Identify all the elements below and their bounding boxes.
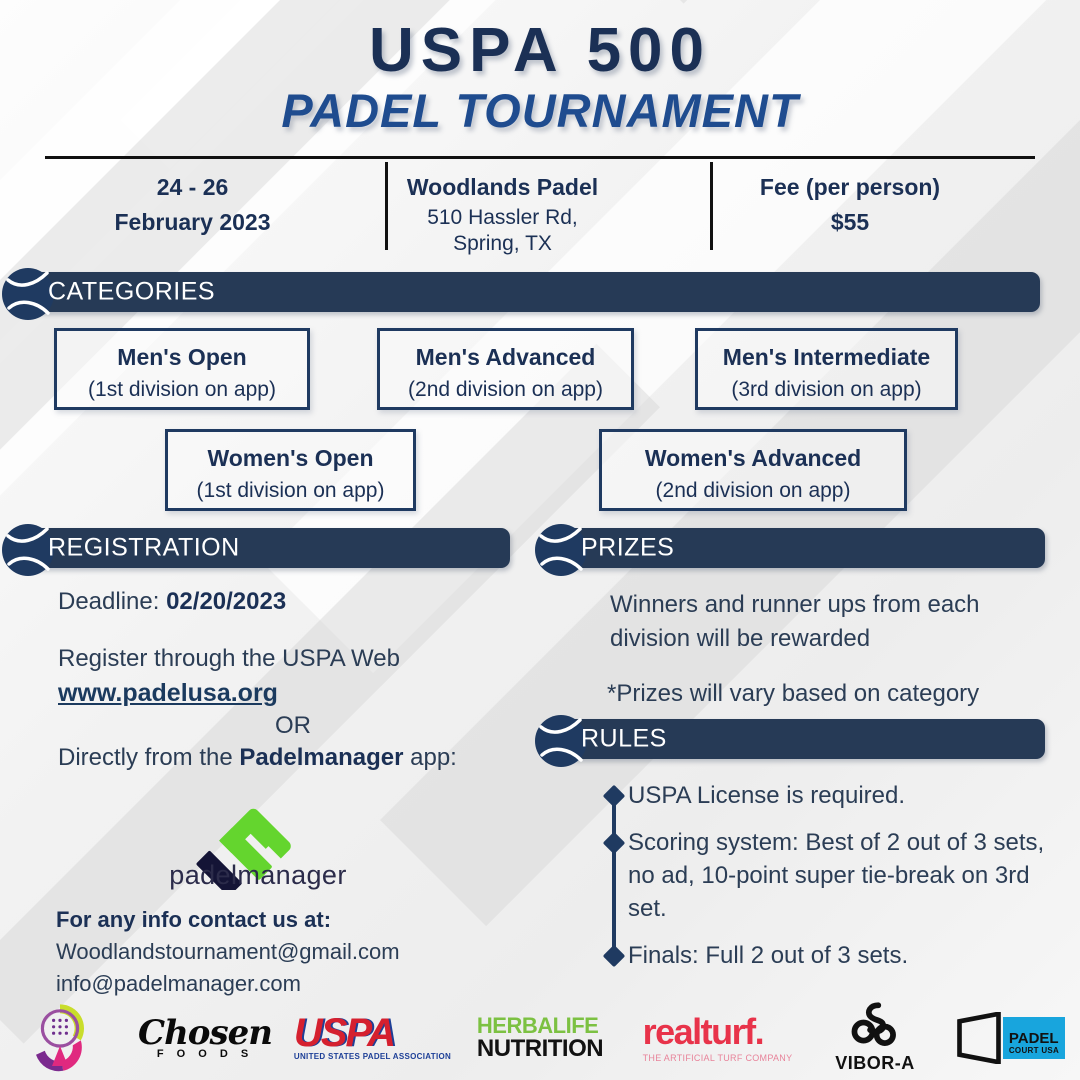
sponsor-logo-padel-court-usa: PADEL COURT USA bbox=[940, 996, 1080, 1080]
section-header-registration: REGISTRATION bbox=[0, 528, 510, 568]
rule-text: Scoring system: Best of 2 out of 3 sets,… bbox=[628, 827, 1050, 926]
venue-address-line-1: 510 Hassler Rd, bbox=[340, 205, 665, 231]
poster-title-block: USPA 500 PADEL TOURNAMENT bbox=[0, 18, 1080, 137]
sponsor-logo-row: Chosen F O O D S USPA UNITED STATES PADE… bbox=[0, 996, 1080, 1080]
info-venue: Woodlands Padel 510 Hassler Rd, Spring, … bbox=[340, 162, 665, 256]
padel-court-tagline: COURT USA bbox=[1009, 1046, 1059, 1055]
fee-label: Fee (per person) bbox=[665, 170, 1035, 205]
category-card[interactable]: Women's Open (1st division on app) bbox=[165, 429, 416, 511]
title-subtitle: PADEL TOURNAMENT bbox=[0, 85, 1080, 137]
sponsor-logo-uspa: USPA UNITED STATES PADEL ASSOCIATION bbox=[290, 996, 455, 1080]
chosen-wordmark: Chosen bbox=[138, 1017, 272, 1049]
category-title: Men's Advanced bbox=[380, 343, 631, 373]
category-subtitle: (2nd division on app) bbox=[602, 476, 904, 505]
padelmanager-wordmark: padelmanager bbox=[58, 860, 458, 891]
diamond-bullet-icon bbox=[603, 832, 626, 855]
venue-address-line-2: Spring, TX bbox=[340, 231, 665, 257]
registration-app-line: Directly from the Padelmanager app: bbox=[58, 744, 528, 772]
category-card[interactable]: Men's Advanced (2nd division on app) bbox=[377, 328, 634, 410]
registration-or-label: OR bbox=[58, 712, 528, 740]
category-subtitle: (3rd division on app) bbox=[698, 375, 955, 404]
registration-instruction: Register through the USPA Web bbox=[58, 642, 528, 677]
category-title: Men's Intermediate bbox=[698, 343, 955, 373]
deadline-value: 02/20/2023 bbox=[166, 588, 286, 615]
section-title-registration: REGISTRATION bbox=[48, 534, 240, 563]
registration-body: Deadline: 02/20/2023 Register through th… bbox=[58, 585, 528, 772]
realturf-wordmark: realturf. bbox=[643, 1014, 793, 1050]
category-title: Men's Open bbox=[57, 343, 307, 373]
category-card[interactable]: Men's Intermediate (3rd division on app) bbox=[695, 328, 958, 410]
section-title-categories: CATEGORIES bbox=[48, 278, 215, 307]
venue-name: Woodlands Padel bbox=[340, 170, 665, 205]
uspa-wordmark: USPA bbox=[294, 1015, 451, 1051]
uspa-tagline: UNITED STATES PADEL ASSOCIATION bbox=[294, 1052, 451, 1061]
category-title: Women's Advanced bbox=[602, 444, 904, 474]
poster-canvas: USPA 500 PADEL TOURNAMENT 24 - 26 Februa… bbox=[0, 0, 1080, 1080]
herbalife-nutrition-word: NUTRITION bbox=[477, 1037, 603, 1061]
rule-item: USPA License is required. bbox=[600, 780, 1050, 813]
rule-text: Finals: Full 2 out of 3 sets. bbox=[628, 940, 1050, 973]
herbalife-wordmark: HERBALIFE bbox=[477, 1015, 603, 1037]
padel-court-outline-icon bbox=[955, 1012, 1003, 1064]
diamond-bullet-icon bbox=[603, 944, 626, 967]
diamond-bullet-icon bbox=[603, 785, 626, 808]
woodlands-padel-logo-icon bbox=[20, 998, 100, 1078]
info-date: 24 - 26 February 2023 bbox=[45, 162, 340, 256]
event-info-row: 24 - 26 February 2023 Woodlands Padel 51… bbox=[45, 162, 1035, 256]
section-header-rules: RULES bbox=[533, 719, 1048, 759]
app-name: Padelmanager bbox=[239, 744, 403, 771]
prizes-note: *Prizes will vary based on category bbox=[607, 677, 1040, 711]
app-suffix: app: bbox=[403, 744, 456, 771]
realturf-tagline: THE ARTIFICIAL TURF COMPANY bbox=[643, 1053, 793, 1063]
section-header-prizes: PRIZES bbox=[533, 528, 1048, 568]
registration-deadline: Deadline: 02/20/2023 bbox=[58, 585, 528, 620]
contact-heading: For any info contact us at: bbox=[56, 903, 526, 936]
rule-text: USPA License is required. bbox=[628, 780, 1050, 813]
sponsor-logo-woodlands-padel bbox=[0, 996, 120, 1080]
registration-website-link[interactable]: www.padelusa.org bbox=[58, 679, 528, 708]
section-header-categories: CATEGORIES bbox=[0, 272, 1040, 312]
date-line-2: February 2023 bbox=[45, 205, 340, 240]
vibor-a-wordmark: VIBOR-A bbox=[835, 1053, 915, 1074]
header-divider-line bbox=[45, 156, 1035, 159]
sponsor-logo-chosen-foods: Chosen F O O D S bbox=[120, 996, 290, 1080]
category-title: Women's Open bbox=[168, 444, 413, 474]
contact-email-1[interactable]: Woodlandstournament@gmail.com bbox=[56, 936, 526, 968]
app-prefix: Directly from the bbox=[58, 744, 239, 771]
category-subtitle: (1st division on app) bbox=[57, 375, 307, 404]
sponsor-logo-realturf: realturf. THE ARTIFICIAL TURF COMPANY bbox=[625, 996, 810, 1080]
prizes-line-2: division will be rewarded bbox=[610, 622, 1040, 656]
fee-value: $55 bbox=[665, 205, 1035, 240]
rule-item: Scoring system: Best of 2 out of 3 sets,… bbox=[600, 827, 1050, 926]
category-subtitle: (1st division on app) bbox=[168, 476, 413, 505]
title-main: USPA 500 bbox=[0, 18, 1080, 83]
date-line-1: 24 - 26 bbox=[45, 170, 340, 205]
section-title-rules: RULES bbox=[581, 725, 667, 754]
padel-court-wordmark: PADEL bbox=[1009, 1031, 1059, 1046]
deadline-label: Deadline: bbox=[58, 588, 166, 615]
background-band bbox=[620, 0, 1080, 4]
rules-body: USPA License is required. Scoring system… bbox=[600, 780, 1050, 986]
vibor-a-snake-icon bbox=[850, 1002, 900, 1048]
chosen-tagline: F O O D S bbox=[138, 1049, 272, 1059]
contact-block: For any info contact us at: Woodlandstou… bbox=[56, 903, 526, 1000]
rule-item: Finals: Full 2 out of 3 sets. bbox=[600, 940, 1050, 973]
category-card[interactable]: Men's Open (1st division on app) bbox=[54, 328, 310, 410]
section-title-prizes: PRIZES bbox=[581, 534, 674, 563]
sponsor-logo-vibor-a: VIBOR-A bbox=[810, 996, 940, 1080]
category-card[interactable]: Women's Advanced (2nd division on app) bbox=[599, 429, 907, 511]
prizes-line-1: Winners and runner ups from each bbox=[610, 588, 1040, 622]
contact-email-2[interactable]: info@padelmanager.com bbox=[56, 968, 526, 1000]
category-subtitle: (2nd division on app) bbox=[380, 375, 631, 404]
sponsor-logo-herbalife-nutrition: HERBALIFE NUTRITION bbox=[455, 996, 625, 1080]
prizes-body: Winners and runner ups from each divisio… bbox=[610, 588, 1040, 711]
info-fee: Fee (per person) $55 bbox=[665, 162, 1035, 256]
